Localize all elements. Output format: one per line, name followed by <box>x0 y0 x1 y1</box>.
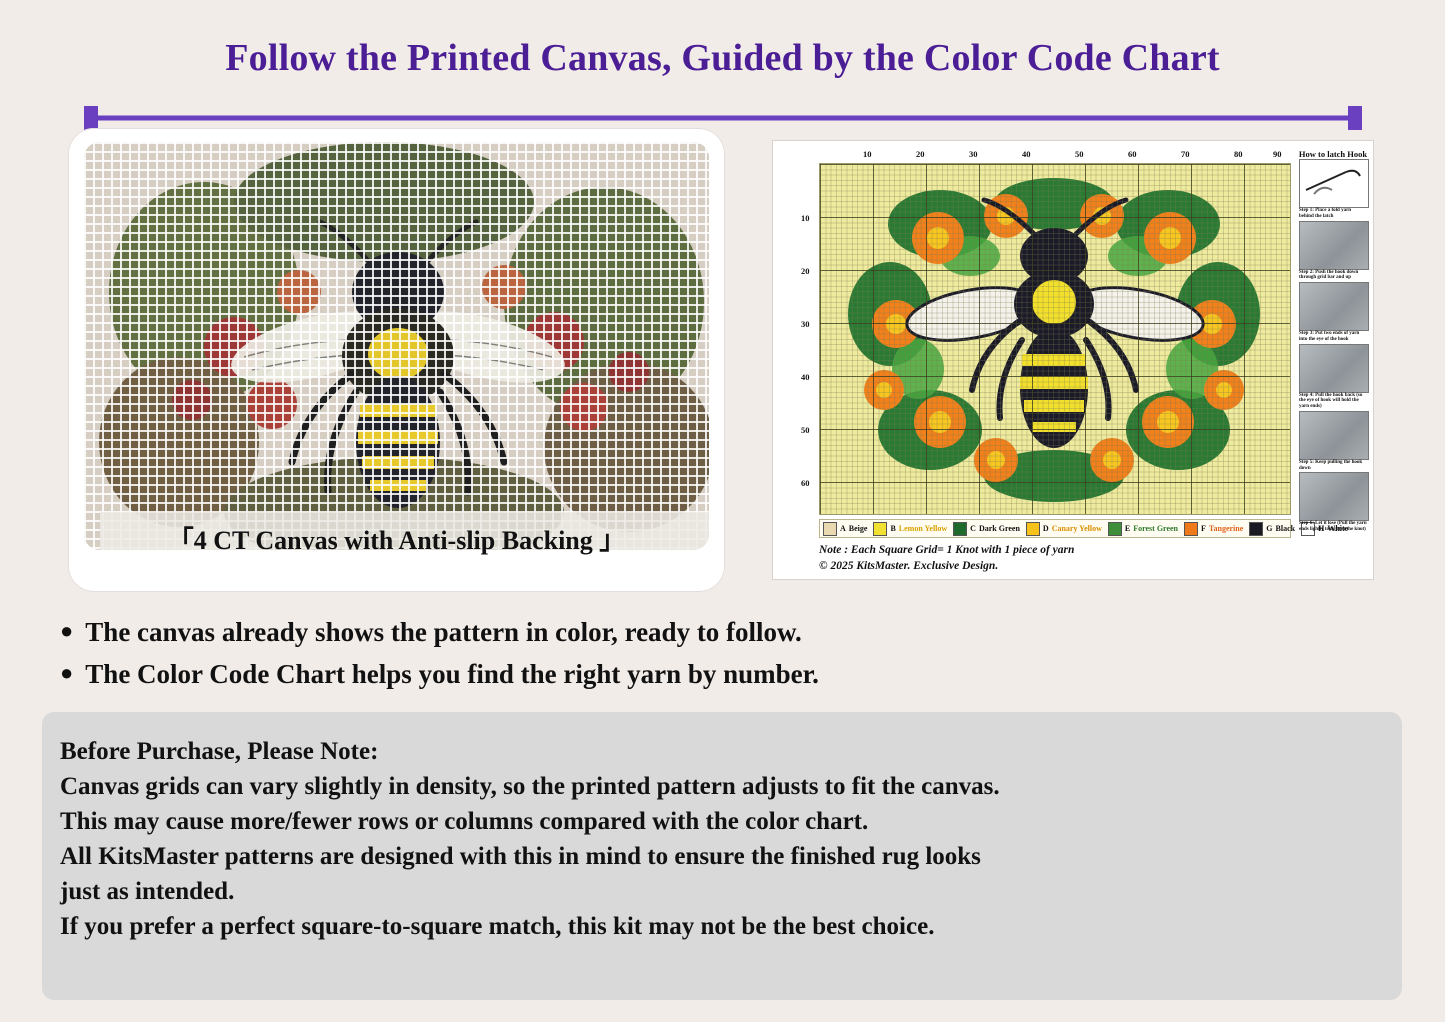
width-arrow <box>84 106 1362 130</box>
howto-step-4: Step 4: Pull the hook back (so the eye o… <box>1299 344 1367 410</box>
bullet-dot-icon: ● <box>60 612 73 649</box>
legend-code-F: F <box>1201 524 1206 533</box>
note-line-5: If you prefer a perfect square-to-square… <box>60 909 1384 944</box>
howto-step-1-caption: Step 1: Place a fold yarn behind the lat… <box>1299 208 1367 220</box>
legend-item-E: E Forest Green <box>1105 520 1181 537</box>
legend-label-A: Beige <box>849 524 868 533</box>
chart-x-tick-5: 60 <box>1128 149 1137 159</box>
chart-y-tick-5: 60 <box>801 478 810 488</box>
color-code-chart-panel: 10 20 30 40 50 60 70 80 90 10 20 30 40 5… <box>772 140 1374 580</box>
note-title: Before Purchase, Please Note: <box>60 734 1384 769</box>
color-legend: A Beige B Lemon Yellow C Dark Green D Ca… <box>819 519 1291 538</box>
legend-code-D: D <box>1043 524 1049 533</box>
chart-x-tick-6: 70 <box>1181 149 1190 159</box>
chart-x-tick-3: 40 <box>1022 149 1031 159</box>
printed-canvas-image <box>84 142 709 550</box>
howto-step-5-image <box>1299 411 1369 460</box>
legend-code-G: G <box>1266 524 1272 533</box>
legend-code-C: C <box>970 524 976 533</box>
howto-step-5-caption: Step 5: Keep pulling the hook down <box>1299 460 1367 472</box>
chart-x-tick-4: 50 <box>1075 149 1084 159</box>
pattern-coarse-grid <box>820 164 1290 514</box>
note-line-3: All KitsMaster patterns are designed wit… <box>60 839 1384 874</box>
chart-x-tick-0: 10 <box>863 149 872 159</box>
legend-label-F: Tangerine <box>1209 524 1243 533</box>
howto-step-1-image <box>1299 159 1369 208</box>
legend-label-D: Canary Yellow <box>1052 524 1102 533</box>
chart-note-line-1: Note : Each Square Grid= 1 Knot with 1 p… <box>819 543 1289 559</box>
legend-item-G: G Black <box>1246 520 1298 537</box>
howto-step-2: Step 2: Push the hook down through grid … <box>1299 221 1367 282</box>
legend-label-E: Forest Green <box>1133 524 1178 533</box>
howto-step-4-image <box>1299 344 1369 393</box>
howto-step-2-caption: Step 2: Push the hook down through grid … <box>1299 270 1367 282</box>
chart-y-tick-0: 10 <box>801 213 810 223</box>
page-title: Follow the Printed Canvas, Guided by the… <box>0 36 1445 80</box>
chart-note-copyright: © 2025 KitsMaster. Exclusive Design. <box>819 559 1289 575</box>
chart-notes: Note : Each Square Grid= 1 Knot with 1 p… <box>819 543 1289 574</box>
how-to-title: How to latch Hook <box>1297 149 1369 159</box>
legend-swatch-E <box>1108 522 1122 536</box>
legend-item-D: D Canary Yellow <box>1023 520 1105 537</box>
legend-label-G: Black <box>1276 524 1296 533</box>
pattern-grid <box>819 163 1291 515</box>
chart-x-tick-2: 30 <box>969 149 978 159</box>
chart-y-tick-3: 40 <box>801 372 810 382</box>
before-purchase-note-box: Before Purchase, Please Note: Canvas gri… <box>42 712 1402 1000</box>
legend-code-A: A <box>840 524 846 533</box>
note-line-2: This may cause more/fewer rows or column… <box>60 804 1384 839</box>
feature-bullet-1: ● The canvas already shows the pattern i… <box>60 612 1390 654</box>
chart-x-tick-1: 20 <box>916 149 925 159</box>
legend-label-B: Lemon Yellow <box>899 524 947 533</box>
chart-x-tick-8: 90 <box>1273 149 1282 159</box>
chart-y-tick-4: 50 <box>801 425 810 435</box>
legend-item-C: C Dark Green <box>950 520 1023 537</box>
chart-x-tick-7: 80 <box>1234 149 1243 159</box>
bullet-dot-icon: ● <box>60 654 73 691</box>
canvas-photo-panel: 「4 CT Canvas with Anti-slip Backing 」 <box>68 128 725 592</box>
legend-item-F: F Tangerine <box>1181 520 1246 537</box>
feature-bullets: ● The canvas already shows the pattern i… <box>60 612 1390 696</box>
howto-step-3-image <box>1299 282 1369 331</box>
howto-step-4-caption: Step 4: Pull the hook back (so the eye o… <box>1299 393 1367 410</box>
legend-item-B: B Lemon Yellow <box>870 520 950 537</box>
feature-bullet-2-text: The Color Code Chart helps you find the … <box>85 654 819 696</box>
legend-item-A: A Beige <box>820 520 870 537</box>
legend-swatch-G <box>1249 522 1263 536</box>
legend-swatch-A <box>823 522 837 536</box>
legend-swatch-C <box>953 522 967 536</box>
chart-y-tick-2: 30 <box>801 319 810 329</box>
how-to-latch-hook: How to latch Hook Step 1: Place a fold y… <box>1297 149 1369 573</box>
howto-step-6-caption: Step 6: Let it lose (Pull the yarn ends … <box>1299 521 1367 533</box>
note-line-4: just as intended. <box>60 874 1384 909</box>
howto-step-3: Step 3: Put two ends of yarn into the ey… <box>1299 282 1367 343</box>
legend-swatch-F <box>1184 522 1198 536</box>
legend-swatch-D <box>1026 522 1040 536</box>
canvas-mesh-overlay <box>84 142 709 550</box>
howto-step-3-caption: Step 3: Put two ends of yarn into the ey… <box>1299 331 1367 343</box>
product-info-page: Follow the Printed Canvas, Guided by the… <box>0 0 1445 1022</box>
legend-code-E: E <box>1125 524 1130 533</box>
legend-label-C: Dark Green <box>979 524 1020 533</box>
feature-bullet-2: ● The Color Code Chart helps you find th… <box>60 654 1390 696</box>
howto-step-5: Step 5: Keep pulling the hook down <box>1299 411 1367 472</box>
howto-step-6-image <box>1299 472 1369 521</box>
chart-y-tick-1: 20 <box>801 266 810 276</box>
canvas-caption: 「4 CT Canvas with Anti-slip Backing 」 <box>68 520 725 557</box>
howto-step-2-image <box>1299 221 1369 270</box>
note-line-1: Canvas grids can vary slightly in densit… <box>60 769 1384 804</box>
legend-swatch-B <box>873 522 887 536</box>
legend-code-B: B <box>890 524 895 533</box>
howto-step-1: Step 1: Place a fold yarn behind the lat… <box>1299 159 1367 220</box>
howto-step-6: Step 6: Let it lose (Pull the yarn ends … <box>1299 472 1367 533</box>
feature-bullet-1-text: The canvas already shows the pattern in … <box>85 612 802 654</box>
